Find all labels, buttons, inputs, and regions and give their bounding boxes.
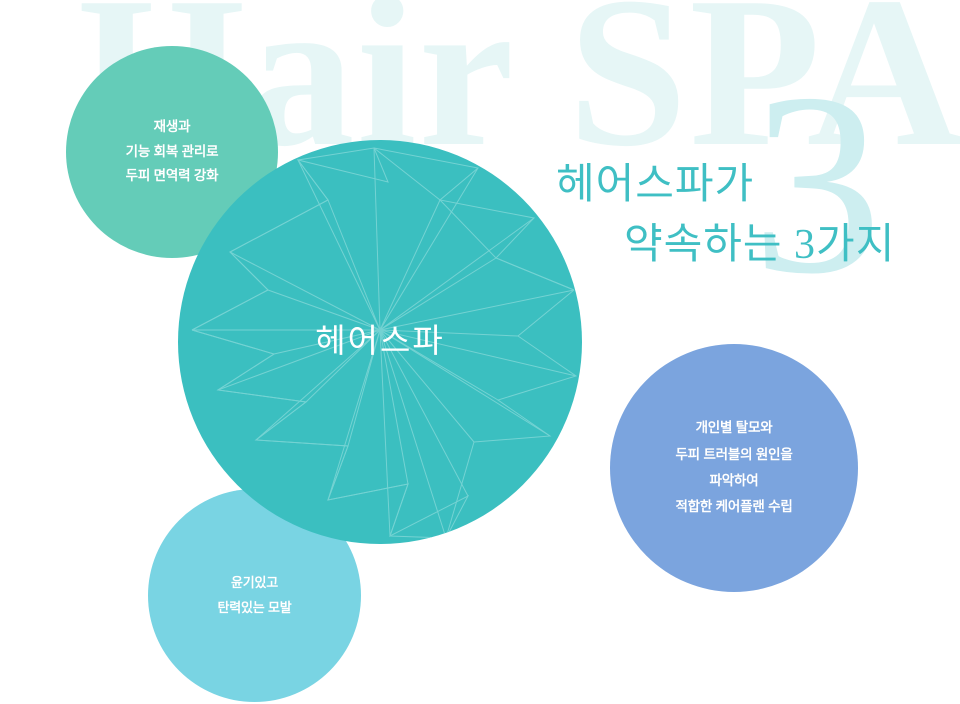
bubble-line: 두피 면역력 강화 [126, 164, 219, 189]
bubble-center-hair-spa: 헤어스파 [178, 140, 582, 544]
page-title-line-2: 약속하는 3가지 [556, 216, 895, 276]
center-bubble-label: 헤어스파 [315, 314, 444, 362]
bubble-line: 탄력있는 모발 [218, 596, 292, 620]
bubble-line: 재생과 [126, 115, 219, 140]
bubble-line: 윤기있고 [218, 571, 292, 595]
bubble-care-plan: 개인별 탈모와 두피 트러블의 원인을 파악하여 적합한 케어플랜 수립 [610, 344, 858, 592]
bubble-line: 개인별 탈모와 [675, 415, 792, 441]
bubble-shine-elasticity-text: 윤기있고 탄력있는 모발 [218, 571, 292, 619]
bubble-line: 파악하여 [675, 468, 792, 494]
page-title-line-1: 헤어스파가 [556, 162, 754, 208]
bubble-line: 두피 트러블의 원인을 [675, 442, 792, 468]
slide-canvas: Hair SPA 3 윤기있고 탄력있는 모발 재생과 기능 회복 관리로 두피… [0, 0, 960, 704]
page-title: 헤어스파가 약속하는 3가지 [556, 156, 895, 275]
bubble-care-plan-text: 개인별 탈모와 두피 트러블의 원인을 파악하여 적합한 케어플랜 수립 [675, 415, 792, 520]
bubble-line: 적합한 케어플랜 수립 [675, 494, 792, 520]
bubble-line: 기능 회복 관리로 [126, 140, 219, 165]
bubble-regeneration-text: 재생과 기능 회복 관리로 두피 면역력 강화 [126, 115, 219, 190]
